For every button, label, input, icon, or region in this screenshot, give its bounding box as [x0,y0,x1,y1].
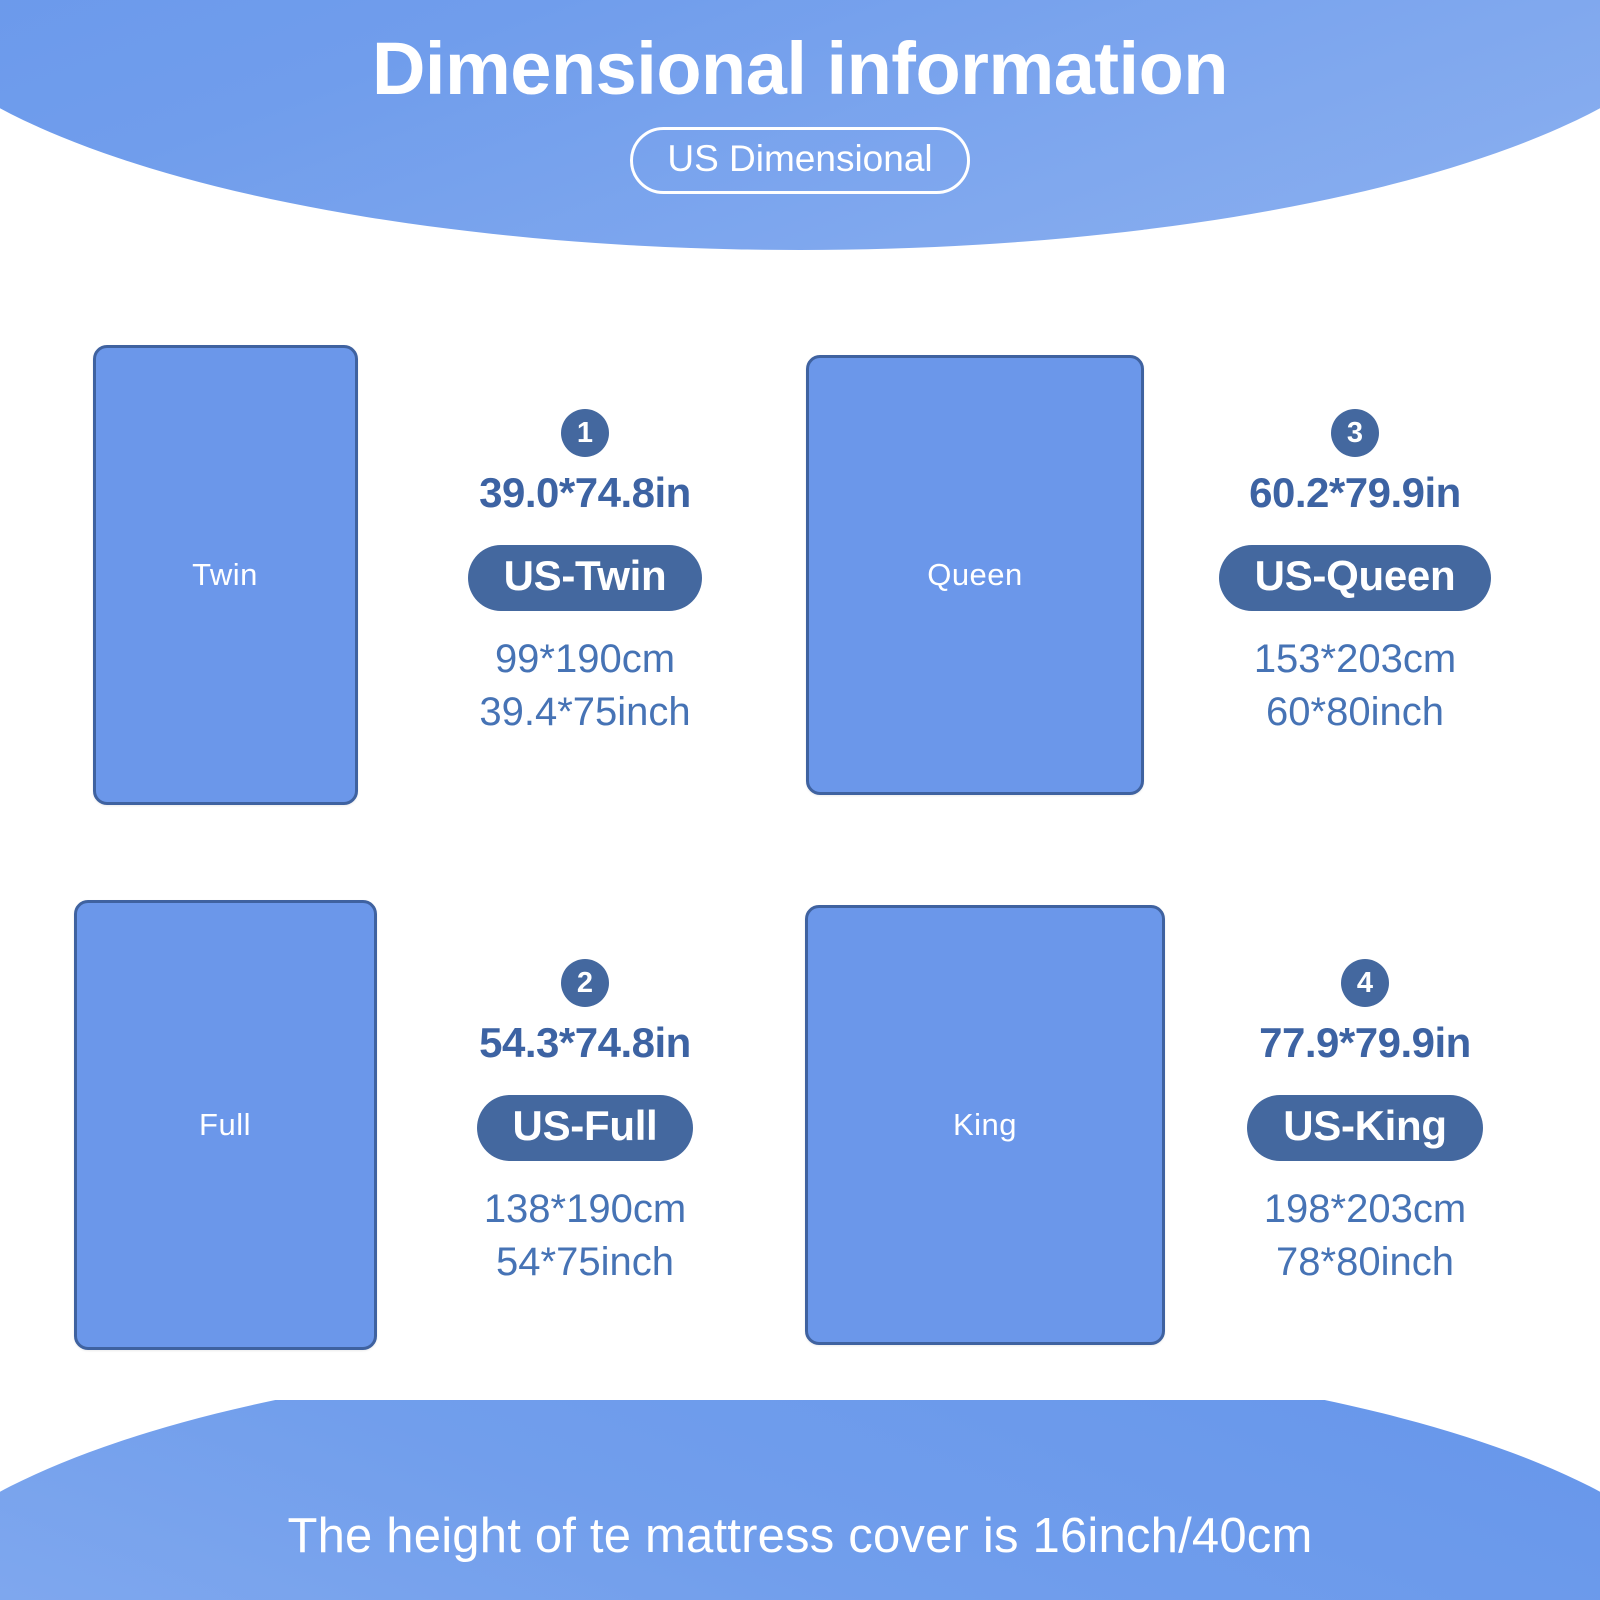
header-banner: Dimensional information US Dimensional [0,0,1600,300]
dimensions-inches-full: 54.3*74.8in [479,1019,691,1067]
size-info-king: 4 77.9*79.9in US-King 198*203cm 78*80inc… [1190,959,1540,1290]
size-pill-us-twin[interactable]: US-Twin [468,545,703,610]
dimensions-inches-twin: 39.0*74.8in [479,469,691,517]
dimensions-inches-king: 77.9*79.9in [1259,1019,1471,1067]
size-card-full: Full 2 54.3*74.8in US-Full 138*190cm 54*… [60,850,780,1400]
page-title: Dimensional information [0,28,1600,109]
subtitle-pill: US Dimensional [630,127,969,194]
dimensions-cm-queen: 153*203cm [1254,637,1456,682]
size-info-full: 2 54.3*74.8in US-Full 138*190cm 54*75inc… [390,959,780,1290]
badge-number-3: 3 [1331,409,1379,457]
dimensions-inch-alt-king: 78*80inch [1276,1240,1454,1285]
mattress-rect-full: Full [74,900,377,1350]
size-card-twin: Twin 1 39.0*74.8in US-Twin 99*190cm 39.4… [60,300,780,850]
dimensions-cm-king: 198*203cm [1264,1187,1466,1232]
size-card-king: King 4 77.9*79.9in US-King 198*203cm 78*… [780,850,1540,1400]
footer-note: The height of te mattress cover is 16inc… [0,1508,1600,1564]
badge-number-2: 2 [561,959,609,1007]
dimensions-inches-queen: 60.2*79.9in [1249,469,1461,517]
header-content: Dimensional information US Dimensional [0,0,1600,194]
dimensions-inch-alt-full: 54*75inch [496,1240,674,1285]
size-pill-us-king[interactable]: US-King [1247,1095,1483,1160]
size-info-twin: 1 39.0*74.8in US-Twin 99*190cm 39.4*75in… [390,409,780,740]
mattress-label-full: Full [199,1107,251,1143]
size-grid: Twin 1 39.0*74.8in US-Twin 99*190cm 39.4… [0,300,1600,1400]
mattress-holder-king: King [780,905,1190,1345]
size-pill-us-queen[interactable]: US-Queen [1219,545,1492,610]
dimensions-inch-alt-twin: 39.4*75inch [479,690,690,735]
footer-background-curve [0,1400,1600,1600]
dimensions-cm-twin: 99*190cm [495,637,675,682]
mattress-rect-king: King [805,905,1165,1345]
size-pill-us-full[interactable]: US-Full [477,1095,694,1160]
dimensional-information-infographic: Dimensional information US Dimensional T… [0,0,1600,1600]
mattress-label-queen: Queen [927,557,1023,593]
mattress-label-king: King [953,1107,1017,1143]
badge-number-1: 1 [561,409,609,457]
footer-banner: The height of te mattress cover is 16inc… [0,1400,1600,1600]
size-info-queen: 3 60.2*79.9in US-Queen 153*203cm 60*80in… [1170,409,1540,740]
size-card-queen: Queen 3 60.2*79.9in US-Queen 153*203cm 6… [780,300,1540,850]
mattress-holder-queen: Queen [780,355,1170,795]
badge-number-4: 4 [1341,959,1389,1007]
mattress-holder-full: Full [60,900,390,1350]
mattress-label-twin: Twin [192,557,258,593]
mattress-holder-twin: Twin [60,345,390,805]
dimensions-cm-full: 138*190cm [484,1187,686,1232]
mattress-rect-twin: Twin [93,345,358,805]
mattress-rect-queen: Queen [806,355,1144,795]
dimensions-inch-alt-queen: 60*80inch [1266,690,1444,735]
